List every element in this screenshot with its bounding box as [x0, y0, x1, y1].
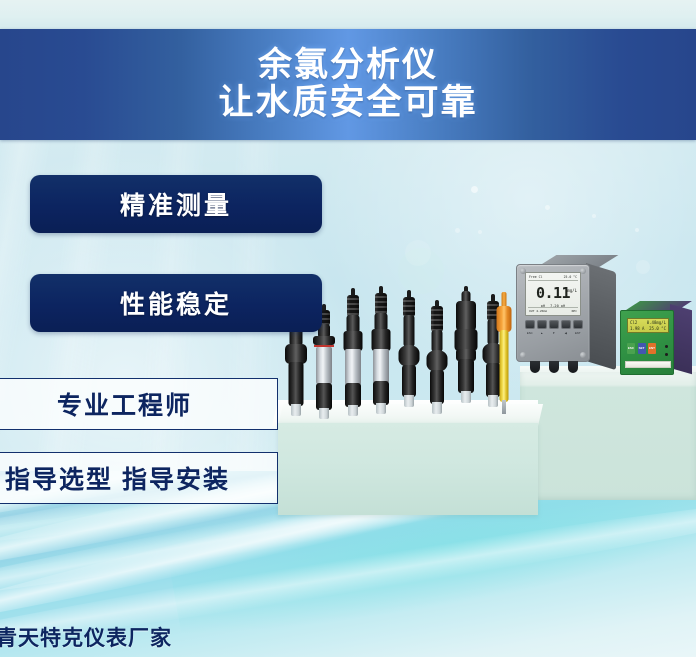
green-led-indicator: [665, 345, 668, 348]
probe-3: [340, 288, 366, 418]
controller-key-enter[interactable]: [573, 320, 583, 329]
residual-chlorine-controller: Free Cl 25.0 °C 0.11 mg/L pH 7.20 pH OUT…: [516, 260, 618, 378]
lcd-status-bar: OUT 4-20mA REC: [528, 307, 578, 314]
lcd-header-right: 25.0 °C: [564, 275, 577, 279]
controller-cable-glands: [530, 361, 578, 373]
lcd-main-unit: mg/L: [567, 288, 577, 293]
controller-key-left[interactable]: [561, 320, 571, 329]
probe-7: [452, 286, 480, 418]
green-analyzer: Cl2 0.48mg/L 1.98 A 25.0 °C ESC SET ENT: [620, 310, 696, 382]
controller-front-face: [516, 264, 590, 362]
bokeh-dot: [405, 240, 431, 266]
controller-keypad[interactable]: [525, 320, 583, 329]
feature-label: 精准测量: [120, 186, 232, 222]
bokeh-dot: [560, 255, 569, 264]
green-lcd-row1-right: 0.48mg/L: [647, 320, 666, 326]
feature-label: 指导选型 指导安装: [5, 460, 230, 496]
brand-name: 青天特克仪表厂家: [0, 622, 172, 652]
green-lcd-row2: 1.98 A 25.0 °C: [630, 326, 666, 332]
pedestal-back-top: [520, 366, 696, 376]
top-strip: [0, 0, 696, 30]
bokeh-dot: [636, 260, 650, 274]
pedestal-front-cap: [272, 400, 538, 426]
feature-label: 专业工程师: [57, 386, 192, 422]
bokeh-dot: [545, 205, 550, 210]
bokeh-dot: [635, 228, 639, 232]
controller-key-down[interactable]: [549, 320, 559, 329]
controller-top-face: [534, 255, 618, 269]
feature-label: 性能稳定: [120, 285, 232, 321]
lcd-sub-left: pH: [541, 304, 545, 308]
screw-icon: [520, 352, 526, 358]
probe-8: [480, 294, 506, 418]
controller-lcd-display: Free Cl 25.0 °C 0.11 mg/L pH 7.20 pH OUT…: [525, 272, 581, 316]
pedestal-front-top: [278, 404, 543, 426]
bokeh-dot: [592, 214, 596, 218]
key-label-up: ▲: [537, 331, 547, 335]
green-key-esc[interactable]: ESC: [627, 343, 635, 354]
screw-icon: [580, 268, 586, 274]
poster-root: 余氯分析仪 让水质安全可靠 Free Cl 25.0 °C 0.11: [0, 0, 696, 657]
probe-4: [368, 286, 394, 418]
cable-gland-icon: [549, 361, 559, 373]
controller-key-esc[interactable]: [525, 320, 535, 329]
screw-icon: [520, 268, 526, 274]
green-key-enter[interactable]: ENT: [648, 343, 656, 354]
green-lcd-row1-left: Cl2: [630, 320, 637, 326]
feature-accurate-measurement[interactable]: 精准测量: [30, 175, 322, 233]
key-label-esc: ESC: [525, 331, 535, 335]
key-label-left: ◀: [561, 331, 571, 335]
lcd-bar-right: REC: [572, 309, 577, 313]
green-led-indicator: [665, 353, 668, 356]
cable-gland-icon: [568, 361, 578, 373]
key-label-enter: ENT: [573, 331, 583, 335]
green-label-strip: [625, 361, 671, 368]
bokeh-dot: [398, 248, 444, 294]
feature-selection-installation[interactable]: 指导选型 指导安装: [0, 452, 278, 504]
green-lcd-row2-left: 1.98 A: [630, 326, 644, 332]
controller-key-labels: ESC ▲ ▼ ◀ ENT: [525, 331, 583, 335]
banner-title-line1: 余氯分析仪: [258, 48, 438, 83]
lcd-header-row: Free Cl 25.0 °C: [528, 274, 578, 281]
lcd-bar-left: OUT 4-20mA: [529, 309, 547, 313]
lcd-sub-right: 7.20 pH: [550, 304, 565, 308]
green-front-face: Cl2 0.48mg/L 1.98 A 25.0 °C ESC SET ENT: [620, 310, 674, 375]
green-lcd-row1: Cl2 0.48mg/L: [630, 320, 666, 326]
feature-stable-performance[interactable]: 性能稳定: [30, 274, 322, 332]
probe-6: [424, 300, 450, 418]
lcd-header-left: Free Cl: [529, 275, 542, 279]
screw-icon: [580, 352, 586, 358]
cable-gland-icon: [530, 361, 540, 373]
feature-professional-engineer[interactable]: 专业工程师: [0, 378, 278, 430]
lcd-main-value: 0.11: [526, 282, 580, 303]
green-key-set[interactable]: SET: [638, 343, 646, 354]
green-keypad[interactable]: ESC SET ENT: [627, 343, 656, 354]
bokeh-dot: [455, 228, 460, 233]
controller-side-face: [586, 263, 616, 370]
banner-title-line2: 让水质安全可靠: [218, 85, 477, 121]
bokeh-dot: [471, 186, 478, 193]
key-label-down: ▼: [549, 331, 559, 335]
probe-9: [493, 292, 515, 418]
green-lcd-row2-right: 25.0 °C: [649, 326, 666, 332]
controller-key-up[interactable]: [537, 320, 547, 329]
header-banner: 余氯分析仪 让水质安全可靠: [0, 29, 696, 140]
bokeh-dot: [604, 292, 615, 303]
green-side-face: [670, 304, 692, 374]
lcd-sub-row: pH 7.20 pH: [526, 302, 580, 309]
green-lcd-display: Cl2 0.48mg/L 1.98 A 25.0 °C: [627, 318, 669, 333]
green-top-face: [623, 301, 692, 312]
bokeh-dot: [478, 230, 482, 234]
probe-5: [396, 290, 422, 418]
